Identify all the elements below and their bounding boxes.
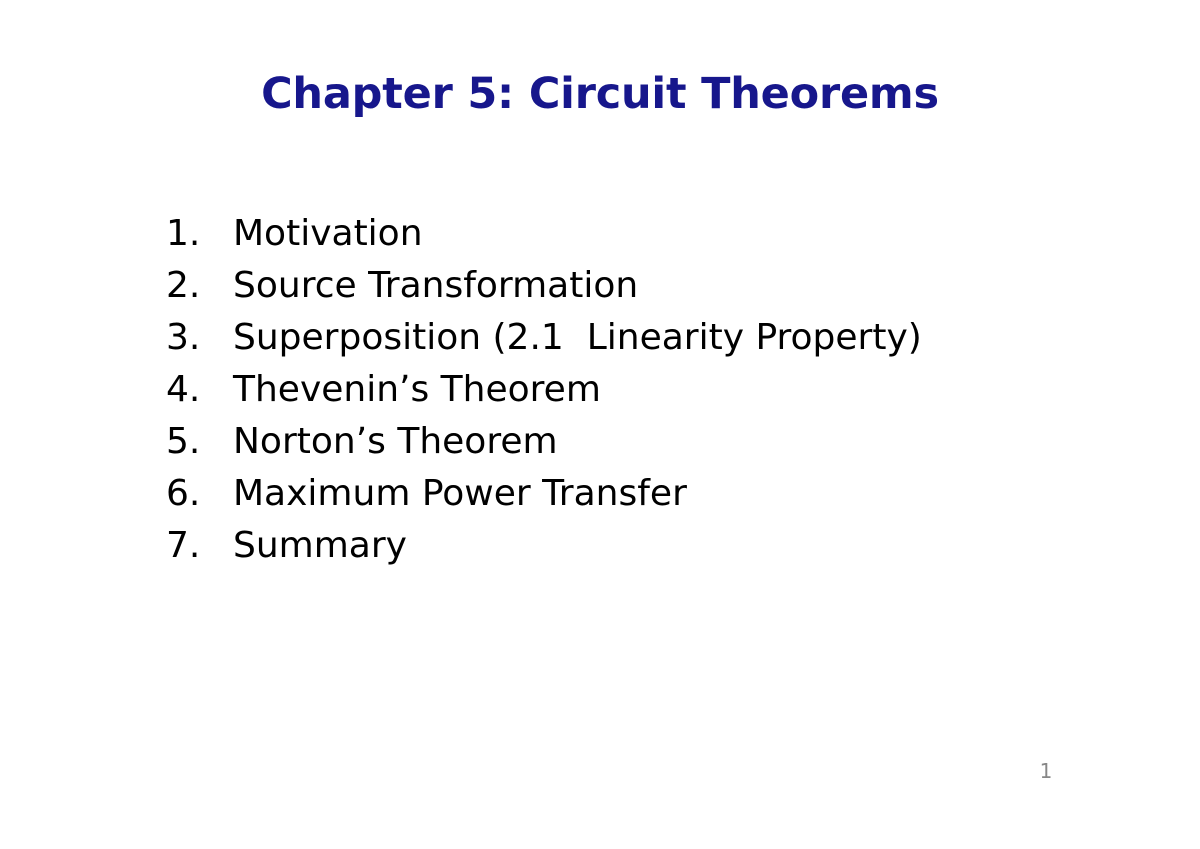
- list-item: 7. Summary: [166, 520, 1126, 572]
- list-item-number: 1.: [166, 208, 233, 260]
- page-title: Chapter 5: Circuit Theorems: [0, 68, 1200, 120]
- outline-list: 1. Motivation 2. Source Transformation 3…: [166, 208, 1126, 572]
- list-item: 4. Thevenin’s Theorem: [166, 364, 1126, 416]
- list-item: 5. Norton’s Theorem: [166, 416, 1126, 468]
- list-item: 2. Source Transformation: [166, 260, 1126, 312]
- list-item: 3. Superposition (2.1 Linearity Property…: [166, 312, 1126, 364]
- list-item-number: 5.: [166, 416, 233, 468]
- list-item-label: Motivation: [233, 208, 423, 260]
- list-item-number: 7.: [166, 520, 233, 572]
- list-item-number: 4.: [166, 364, 233, 416]
- list-item-number: 3.: [166, 312, 233, 364]
- list-item-label: Superposition (2.1 Linearity Property): [233, 312, 922, 364]
- list-item-label: Maximum Power Transfer: [233, 468, 687, 520]
- list-item-label: Source Transformation: [233, 260, 638, 312]
- page-number: 1: [1028, 758, 1064, 784]
- list-item-label: Summary: [233, 520, 407, 572]
- presentation-slide: Chapter 5: Circuit Theorems 1. Motivatio…: [0, 0, 1200, 849]
- list-item: 6. Maximum Power Transfer: [166, 468, 1126, 520]
- list-item-label: Norton’s Theorem: [233, 416, 558, 468]
- list-item-number: 6.: [166, 468, 233, 520]
- list-item-label: Thevenin’s Theorem: [233, 364, 601, 416]
- list-item-number: 2.: [166, 260, 233, 312]
- list-item: 1. Motivation: [166, 208, 1126, 260]
